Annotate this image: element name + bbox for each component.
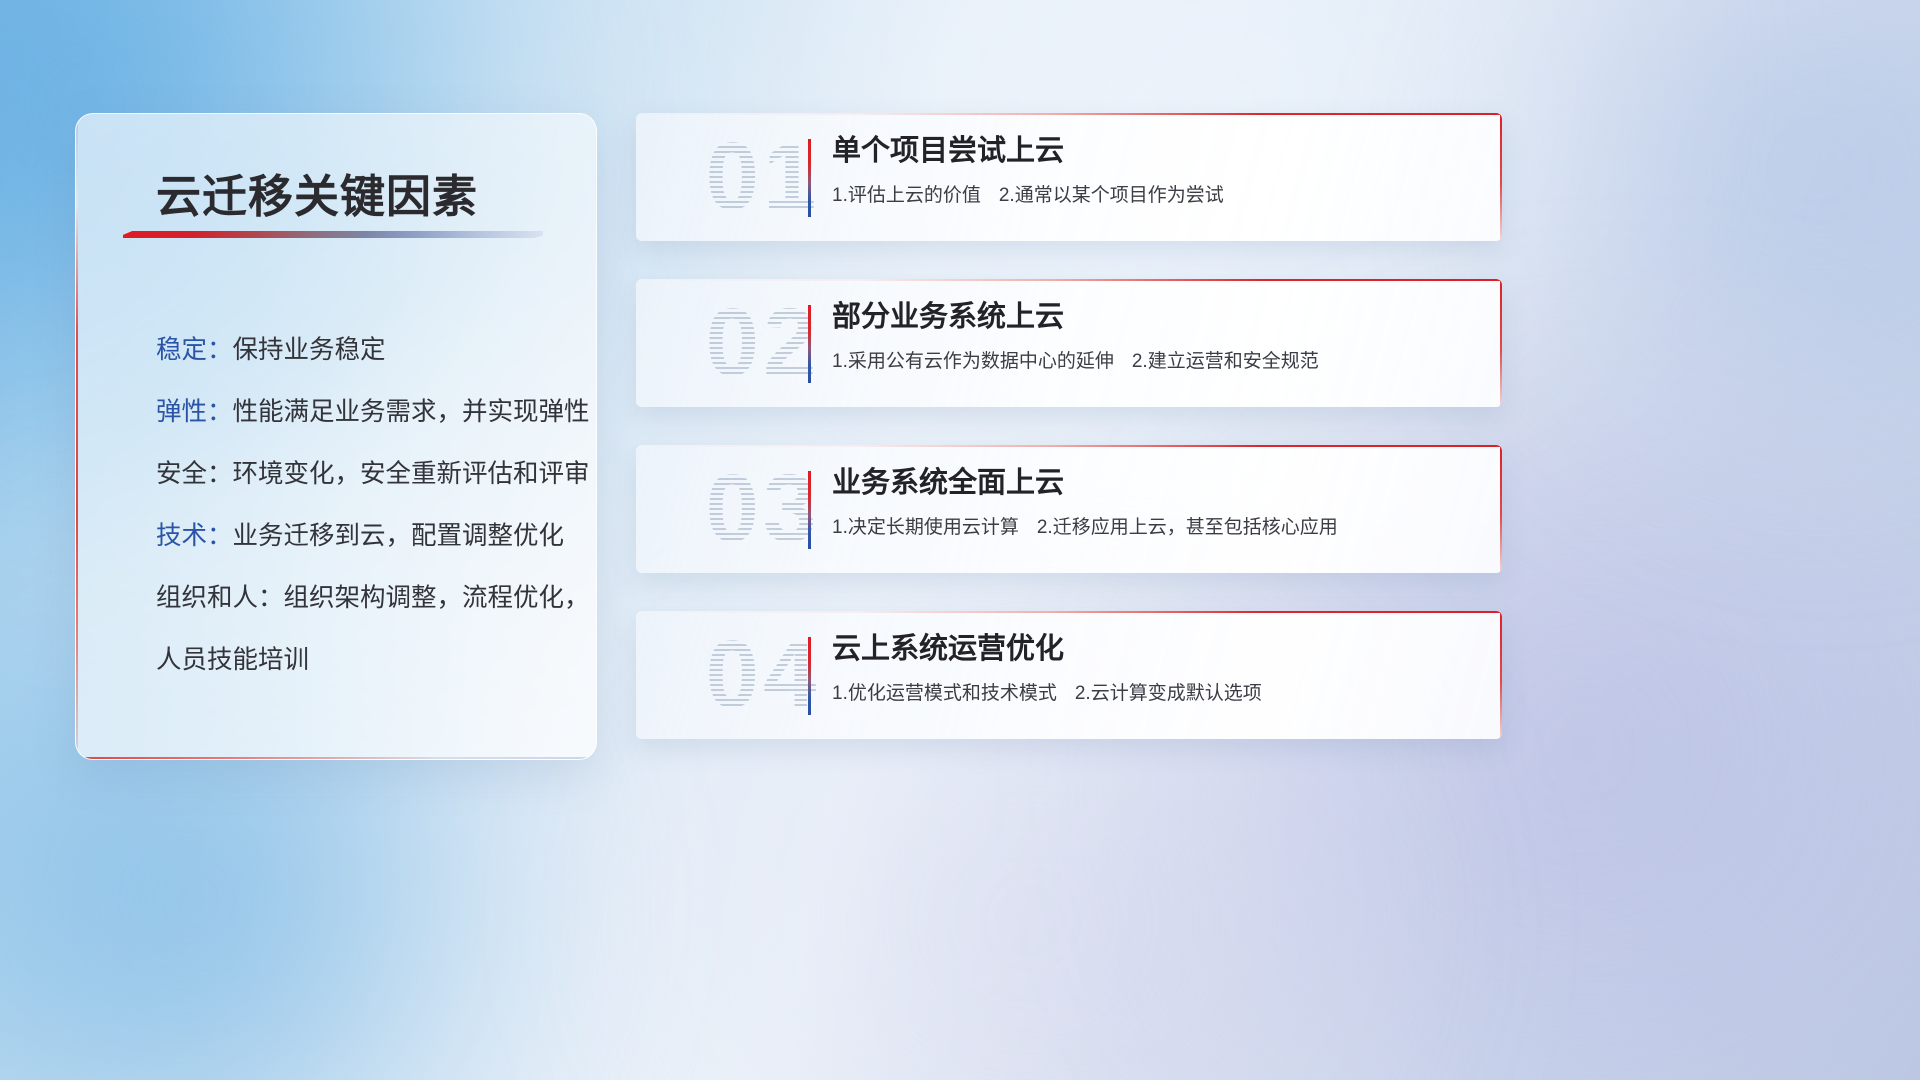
- stage-card[interactable]: 03 业务系统全面上云 1.决定长期使用云计算2.迁移应用上云，甚至包括核心应用: [636, 445, 1502, 573]
- list-item-value: 人员技能培训: [156, 646, 309, 674]
- stage-accent-bar: [808, 637, 811, 715]
- stage-description: 1.评估上云的价值2.通常以某个项目作为尝试: [832, 183, 1478, 209]
- list-item-value: 环境变化，安全重新评估和评审: [233, 460, 590, 488]
- stage-description-part-2: 2.通常以某个项目作为尝试: [999, 185, 1224, 206]
- list-item-key: 稳定：: [156, 336, 233, 364]
- list-item: 技术：业务迁移到云，配置调整优化: [156, 505, 568, 567]
- list-item-key: 技术：: [156, 522, 233, 550]
- stage-card[interactable]: 04 云上系统运营优化 1.优化运营模式和技术模式2.云计算变成默认选项: [636, 611, 1502, 739]
- list-item: 稳定：保持业务稳定: [156, 319, 568, 381]
- stage-description: 1.优化运营模式和技术模式2.云计算变成默认选项: [832, 681, 1478, 707]
- list-item: 组织和人：组织架构调整，流程优化，: [156, 567, 568, 629]
- list-item-value: 性能满足业务需求，并实现弹性: [233, 398, 590, 426]
- stage-title: 云上系统运营优化: [832, 629, 1478, 669]
- stage-accent-bar: [808, 305, 811, 383]
- list-item-value: 组织架构调整，流程优化，: [284, 584, 590, 612]
- list-item-key: 组织和人：: [156, 584, 284, 612]
- list-item-value: 业务迁移到云，配置调整优化: [233, 522, 565, 550]
- key-factors-list: 稳定：保持业务稳定 弹性：性能满足业务需求，并实现弹性 安全：环境变化，安全重新…: [156, 319, 568, 691]
- stage-description-part-1: 1.评估上云的价值: [832, 185, 981, 206]
- stage-accent-bar: [808, 139, 811, 217]
- title-underline-rule: [123, 231, 543, 238]
- stage-body: 业务系统全面上云 1.决定长期使用云计算2.迁移应用上云，甚至包括核心应用: [832, 463, 1478, 541]
- stage-description-part-2: 2.建立运营和安全规范: [1132, 351, 1319, 372]
- list-item-value: 保持业务稳定: [233, 336, 386, 364]
- stage-body: 部分业务系统上云 1.采用公有云作为数据中心的延伸2.建立运营和安全规范: [832, 297, 1478, 375]
- list-item-continuation: 人员技能培训: [156, 629, 568, 691]
- migration-stages-list: 01 单个项目尝试上云 1.评估上云的价值2.通常以某个项目作为尝试 02 部分…: [636, 113, 1502, 777]
- stage-description-part-1: 1.决定长期使用云计算: [832, 517, 1019, 538]
- key-factors-card: 云迁移关键因素 稳定：保持业务稳定 弹性：性能满足业务需求，并实现弹性 安全：环…: [75, 113, 597, 760]
- stage-card[interactable]: 01 单个项目尝试上云 1.评估上云的价值2.通常以某个项目作为尝试: [636, 113, 1502, 241]
- page-title: 云迁移关键因素: [156, 160, 478, 225]
- stage-description-part-1: 1.采用公有云作为数据中心的延伸: [832, 351, 1114, 372]
- stage-title: 部分业务系统上云: [832, 297, 1478, 337]
- stage-description: 1.决定长期使用云计算2.迁移应用上云，甚至包括核心应用: [832, 515, 1478, 541]
- stage-description-part-2: 2.迁移应用上云，甚至包括核心应用: [1037, 517, 1338, 538]
- stage-description-part-1: 1.优化运营模式和技术模式: [832, 683, 1057, 704]
- stage-title: 单个项目尝试上云: [832, 131, 1478, 171]
- stage-title: 业务系统全面上云: [832, 463, 1478, 503]
- stage-description-part-2: 2.云计算变成默认选项: [1075, 683, 1262, 704]
- stage-accent-bar: [808, 471, 811, 549]
- list-item: 弹性：性能满足业务需求，并实现弹性: [156, 381, 568, 443]
- stage-body: 云上系统运营优化 1.优化运营模式和技术模式2.云计算变成默认选项: [832, 629, 1478, 707]
- stage-card[interactable]: 02 部分业务系统上云 1.采用公有云作为数据中心的延伸2.建立运营和安全规范: [636, 279, 1502, 407]
- list-item-key: 安全：: [156, 460, 233, 488]
- list-item-key: 弹性：: [156, 398, 233, 426]
- list-item: 安全：环境变化，安全重新评估和评审: [156, 443, 568, 505]
- stage-description: 1.采用公有云作为数据中心的延伸2.建立运营和安全规范: [832, 349, 1478, 375]
- stage-body: 单个项目尝试上云 1.评估上云的价值2.通常以某个项目作为尝试: [832, 131, 1478, 209]
